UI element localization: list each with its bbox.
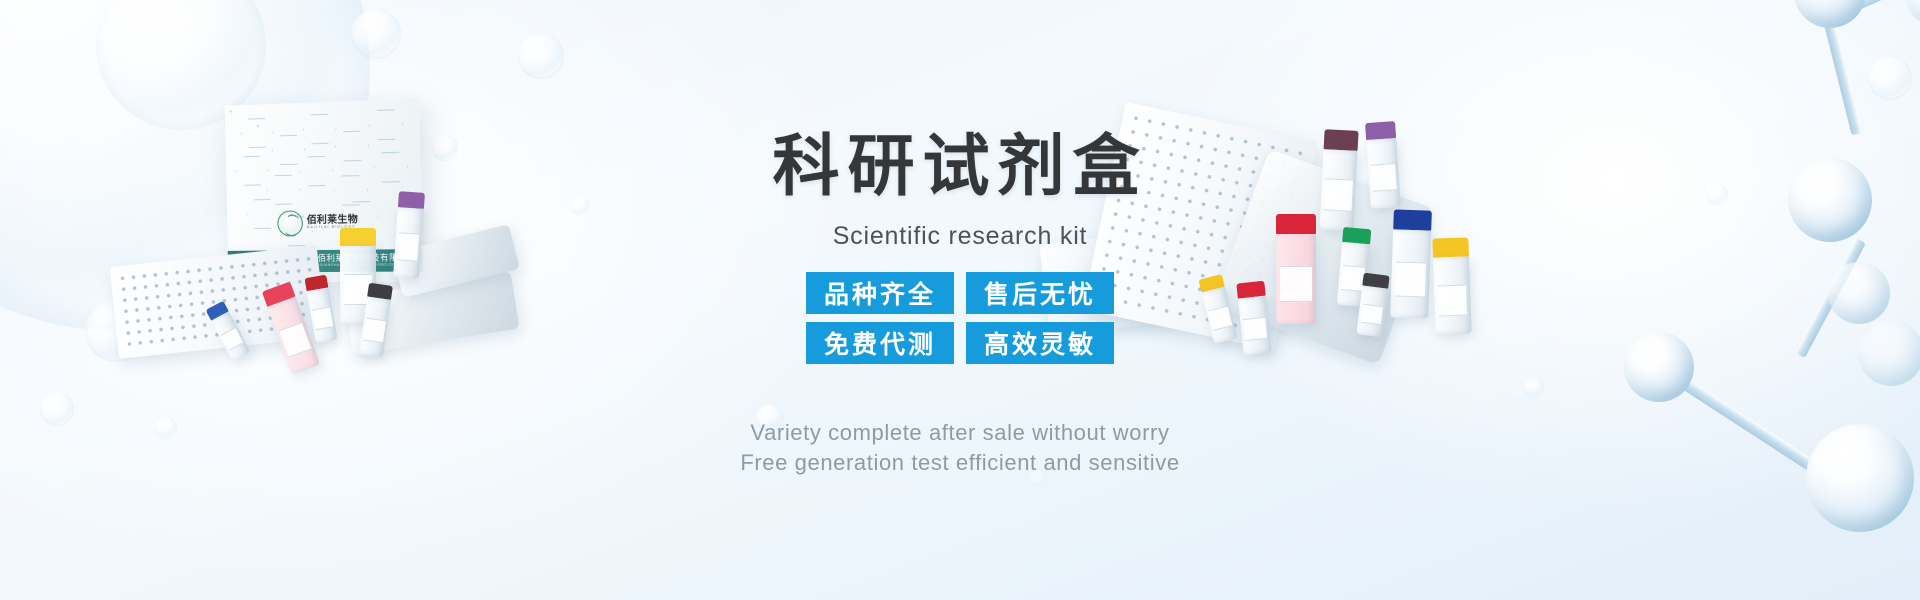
tagline-line-1: Variety complete after sale without worr… xyxy=(0,418,1920,448)
bubble-decor xyxy=(1706,183,1728,205)
bubble-decor xyxy=(351,9,401,59)
feature-tag-sensitive[interactable]: 高效灵敏 xyxy=(966,322,1114,364)
dna-helix-icon xyxy=(277,210,303,236)
bubble-decor xyxy=(1868,56,1912,100)
hero-banner: 佰利莱生物 BAILILAI BIOLOGY 上海佰利莱生物科技有限公司 SHA… xyxy=(0,0,1920,600)
bubble-decor xyxy=(40,392,74,426)
tagline-line-2: Free generation test efficient and sensi… xyxy=(0,448,1920,478)
molecule-decor-top-right xyxy=(1780,0,1920,260)
reagent-vial xyxy=(1365,121,1401,209)
bubble-decor xyxy=(518,33,564,79)
feature-tag-aftersale[interactable]: 售后无忧 xyxy=(966,272,1114,314)
feature-tag-row: 免费代测 高效灵敏 xyxy=(806,322,1114,364)
feature-tag-row: 品种齐全 售后无忧 xyxy=(806,272,1114,314)
feature-tag-group: 品种齐全 售后无忧 免费代测 高效灵敏 xyxy=(0,272,1920,364)
feature-tag-free-test[interactable]: 免费代测 xyxy=(806,322,954,364)
bubble-decor xyxy=(155,417,177,439)
feature-tag-variety[interactable]: 品种齐全 xyxy=(806,272,954,314)
reagent-vial xyxy=(1319,129,1358,231)
bubble-decor xyxy=(1030,470,1046,486)
banner-tagline: Variety complete after sale without worr… xyxy=(0,418,1920,479)
bubble-decor xyxy=(571,197,589,215)
bubble-decor xyxy=(756,404,784,432)
